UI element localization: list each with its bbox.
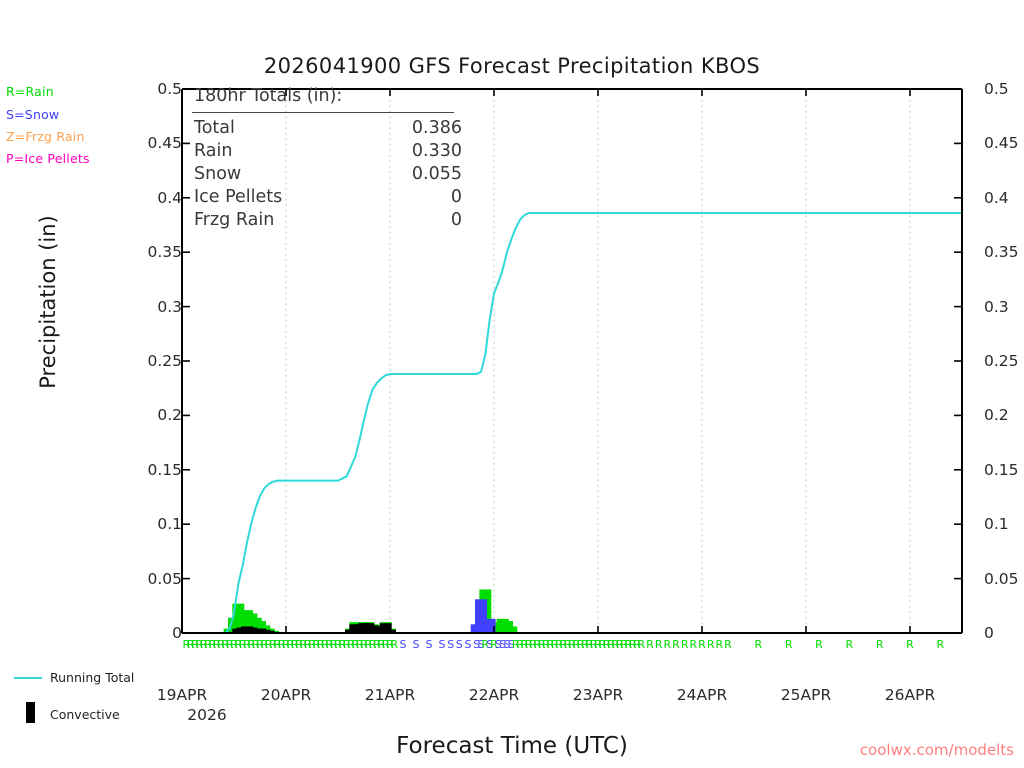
svg-text:R: R bbox=[715, 638, 723, 651]
svg-text:S: S bbox=[400, 638, 407, 651]
y-tick-right: 0.1 bbox=[984, 515, 1024, 533]
x-axis-year: 2026 bbox=[162, 706, 252, 724]
totals-row-total: Total0.386 bbox=[194, 118, 235, 138]
y-tick-left: 0.5 bbox=[140, 80, 182, 98]
totals-label: Ice Pellets bbox=[194, 187, 282, 207]
totals-value: 0.055 bbox=[354, 164, 462, 184]
svg-text:R: R bbox=[681, 638, 689, 651]
svg-text:R: R bbox=[936, 638, 944, 651]
svg-text:S: S bbox=[456, 638, 463, 651]
y-tick-left: 0.2 bbox=[140, 406, 182, 424]
y-tick-left: 0.35 bbox=[140, 243, 182, 261]
totals-label: Total bbox=[194, 118, 235, 138]
y-tick-left: 0.05 bbox=[140, 570, 182, 588]
y-tick-right: 0.5 bbox=[984, 80, 1024, 98]
svg-text:R: R bbox=[815, 638, 823, 651]
totals-label: Frzg Rain bbox=[194, 210, 274, 230]
x-tick-label: 26APR bbox=[865, 686, 955, 704]
svg-text:R: R bbox=[646, 638, 654, 651]
totals-heading: 180hr Totals (in): bbox=[194, 86, 342, 106]
svg-text:R: R bbox=[906, 638, 914, 651]
y-tick-right: 0.3 bbox=[984, 298, 1024, 316]
y-tick-right: 0.2 bbox=[984, 406, 1024, 424]
y-tick-right: 0.25 bbox=[984, 352, 1024, 370]
x-tick-label: 25APR bbox=[761, 686, 851, 704]
totals-label: Rain bbox=[194, 141, 232, 161]
y-tick-right: 0.45 bbox=[984, 134, 1024, 152]
y-tick-left: 0.15 bbox=[140, 461, 182, 479]
svg-text:R: R bbox=[637, 638, 645, 651]
totals-value: 0.330 bbox=[354, 141, 462, 161]
svg-text:R: R bbox=[655, 638, 663, 651]
y-tick-left: 0.4 bbox=[140, 189, 182, 207]
svg-text:R: R bbox=[845, 638, 853, 651]
y-tick-right: 0.4 bbox=[984, 189, 1024, 207]
svg-text:R: R bbox=[724, 638, 732, 651]
svg-text:R: R bbox=[876, 638, 884, 651]
svg-text:R: R bbox=[689, 638, 697, 651]
legend-convective: Convective bbox=[50, 707, 120, 722]
totals-divider bbox=[192, 112, 454, 113]
svg-text:S: S bbox=[413, 638, 420, 651]
totals-row-rain: Rain0.330 bbox=[194, 141, 232, 161]
totals-value: 0 bbox=[354, 210, 462, 230]
svg-text:S: S bbox=[439, 638, 446, 651]
svg-text:R: R bbox=[390, 638, 398, 651]
totals-row-snow: Snow0.055 bbox=[194, 164, 241, 184]
svg-text:S: S bbox=[447, 638, 454, 651]
x-tick-label: 21APR bbox=[345, 686, 435, 704]
svg-text:S: S bbox=[426, 638, 433, 651]
running-total-swatch bbox=[14, 677, 42, 679]
svg-text:R: R bbox=[785, 638, 793, 651]
x-tick-label: 24APR bbox=[657, 686, 747, 704]
totals-row-frzg-rain: Frzg Rain0 bbox=[194, 210, 274, 230]
legend-running-total: Running Total bbox=[50, 670, 134, 685]
svg-text:R: R bbox=[698, 638, 706, 651]
y-tick-left: 0.25 bbox=[140, 352, 182, 370]
y-tick-right: 0.35 bbox=[984, 243, 1024, 261]
convective-swatch bbox=[26, 702, 35, 723]
svg-text:R: R bbox=[754, 638, 762, 651]
x-tick-label: 19APR bbox=[137, 686, 227, 704]
plot-area: RRRRRRRRRRRRRRRRRRRRRRRRRRRRRRRRRRRRRRRR… bbox=[0, 0, 1024, 768]
y-tick-left: 0.45 bbox=[140, 134, 182, 152]
totals-label: Snow bbox=[194, 164, 241, 184]
x-tick-label: 20APR bbox=[241, 686, 331, 704]
x-tick-label: 22APR bbox=[449, 686, 539, 704]
svg-text:R: R bbox=[672, 638, 680, 651]
totals-box: 180hr Totals (in): Total0.386 Rain0.330 … bbox=[186, 86, 486, 238]
chart-canvas: 2026041900 GFS Forecast Precipitation KB… bbox=[0, 0, 1024, 768]
svg-text:R: R bbox=[707, 638, 715, 651]
totals-value: 0 bbox=[354, 187, 462, 207]
y-tick-right: 0.05 bbox=[984, 570, 1024, 588]
y-tick-left: 0.3 bbox=[140, 298, 182, 316]
totals-value: 0.386 bbox=[354, 118, 462, 138]
x-tick-label: 23APR bbox=[553, 686, 643, 704]
svg-text:S: S bbox=[465, 638, 472, 651]
y-tick-left: 0 bbox=[140, 624, 182, 642]
svg-text:R: R bbox=[663, 638, 671, 651]
y-tick-left: 0.1 bbox=[140, 515, 182, 533]
totals-row-ice-pellets: Ice Pellets0 bbox=[194, 187, 282, 207]
y-tick-right: 0.15 bbox=[984, 461, 1024, 479]
y-tick-right: 0 bbox=[984, 624, 1024, 642]
